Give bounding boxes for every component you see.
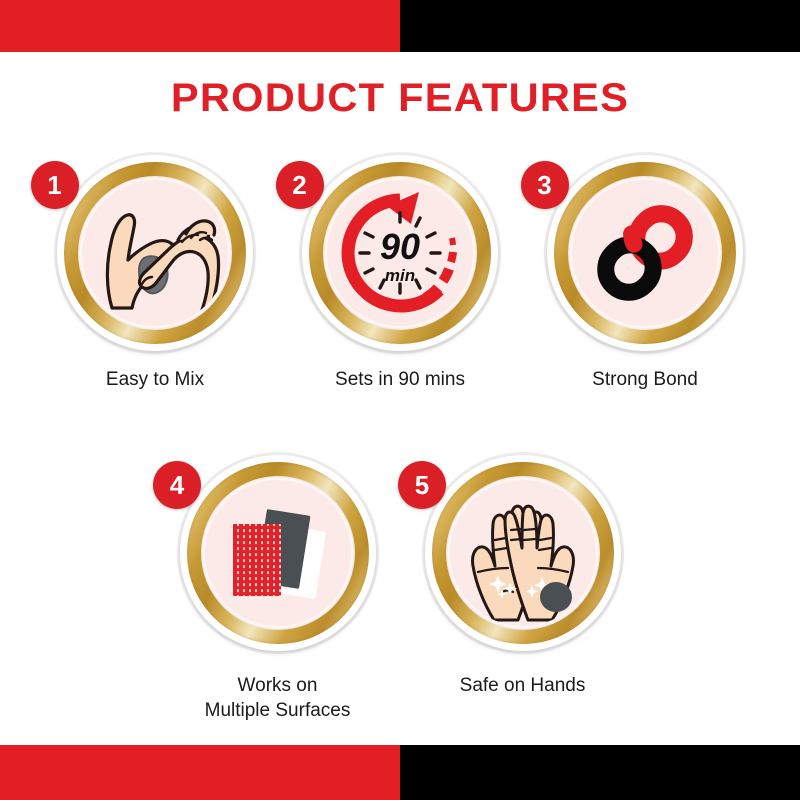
feature-card-sets-in-90-mins: 90 min 2 Sets in 90 mins xyxy=(278,155,523,392)
feature-label: Strong Bond xyxy=(592,367,698,392)
bottom-banner-black-block xyxy=(400,745,800,800)
feature-number-badge: 4 xyxy=(153,461,201,509)
top-banner xyxy=(0,0,800,52)
icon-disc xyxy=(82,180,228,326)
feature-label: Safe on Hands xyxy=(460,673,586,698)
feature-number-badge: 5 xyxy=(398,461,446,509)
product-features-page: PRODUCT FEATURES xyxy=(0,0,800,800)
multiple-surfaces-panels-icon xyxy=(205,480,351,626)
chain-link-icon xyxy=(572,180,718,326)
top-banner-red-block xyxy=(0,0,400,52)
medallion-4 xyxy=(180,455,376,651)
open-palms-icon xyxy=(450,480,596,626)
feature-card-multiple-surfaces: 4 Works on Multiple Surfaces xyxy=(155,455,400,723)
feature-card-easy-to-mix: 1 Easy to Mix xyxy=(33,155,278,392)
timer-value: 90 xyxy=(380,226,420,267)
feature-card-safe-on-hands: 5 Safe on Hands xyxy=(400,455,645,723)
timer-unit: min xyxy=(385,266,415,285)
feature-label: Works on Multiple Surfaces xyxy=(205,673,351,723)
bottom-banner-red-block xyxy=(0,745,400,800)
hands-mixing-icon xyxy=(82,180,228,326)
feature-number-badge: 1 xyxy=(31,161,79,209)
features-row-1: 1 Easy to Mix xyxy=(0,155,800,392)
bottom-banner xyxy=(0,745,800,800)
page-title: PRODUCT FEATURES xyxy=(0,76,800,120)
medallion-3 xyxy=(547,155,743,351)
timer-90-min-icon: 90 min xyxy=(327,180,473,326)
feature-label: Easy to Mix xyxy=(106,367,204,392)
timer-dashes xyxy=(426,238,453,298)
feature-label: Sets in 90 mins xyxy=(335,367,465,392)
panel-red-textured xyxy=(233,524,281,596)
icon-disc xyxy=(205,480,351,626)
icon-disc xyxy=(572,180,718,326)
feature-number-badge: 3 xyxy=(521,161,569,209)
top-banner-black-block xyxy=(400,0,800,52)
features-row-2: 4 Works on Multiple Surfaces xyxy=(0,455,800,723)
feature-number-badge: 2 xyxy=(276,161,324,209)
medallion-2: 90 min xyxy=(302,155,498,351)
medallion-1 xyxy=(57,155,253,351)
icon-disc: 90 min xyxy=(327,180,473,326)
icon-disc xyxy=(450,480,596,626)
feature-card-strong-bond: 3 Strong Bond xyxy=(523,155,768,392)
medallion-5 xyxy=(425,455,621,651)
putty-blob xyxy=(540,582,572,612)
